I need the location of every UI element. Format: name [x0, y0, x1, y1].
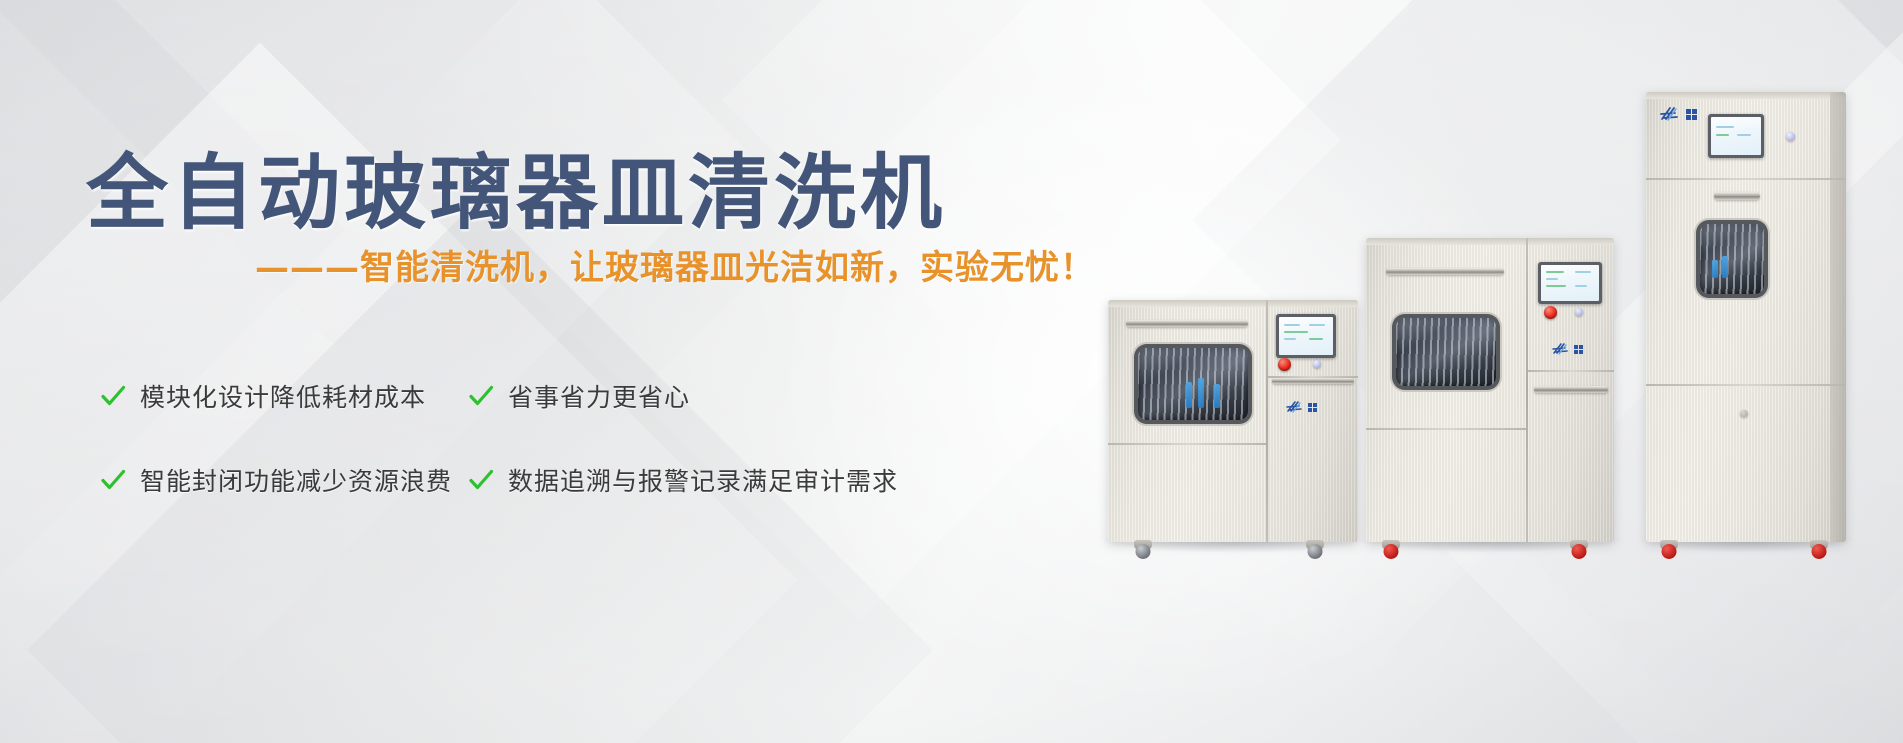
- lock-icon: [1740, 410, 1748, 417]
- machine-body: [1366, 238, 1614, 542]
- feature-row: 模块化设计降低耗材成本 省事省力更省心: [100, 378, 980, 414]
- feature-row: 智能封闭功能减少资源浪费 数据追溯与报警记录满足审计需求: [100, 462, 980, 498]
- brand-logo: [1552, 342, 1583, 356]
- check-icon: [100, 383, 126, 409]
- power-button[interactable]: [1313, 360, 1321, 368]
- touchscreen-panel[interactable]: [1708, 114, 1764, 158]
- door-seam: [1108, 443, 1266, 445]
- list-item: 省事省力更省心: [468, 378, 948, 414]
- emergency-stop-button[interactable]: [1544, 306, 1557, 319]
- screen-line: [1575, 271, 1591, 273]
- section-seam: [1646, 178, 1846, 180]
- wheel: [1308, 544, 1323, 559]
- wheel: [1812, 544, 1827, 559]
- blue-pipette: [1186, 382, 1192, 408]
- door-handle: [1714, 192, 1760, 200]
- banner-subtitle: ———智能清洗机，让玻璃器皿光洁如新，实验无忧！: [255, 240, 1095, 289]
- screen-line: [1546, 278, 1558, 280]
- list-item: 智能封闭功能减少资源浪费: [100, 462, 468, 498]
- blue-pipette: [1214, 384, 1220, 408]
- power-button[interactable]: [1575, 308, 1583, 316]
- section-seam: [1646, 384, 1846, 386]
- blue-pipette: [1712, 260, 1718, 278]
- glassware-inside: [1700, 224, 1764, 294]
- caster-wheel: [1810, 540, 1828, 550]
- product-image-undercounter-washer: [1366, 238, 1614, 542]
- wheel: [1384, 544, 1399, 559]
- drawer-handle: [1272, 378, 1354, 384]
- machine-body: [1646, 92, 1846, 542]
- wheel: [1572, 544, 1587, 559]
- logo-dots-icon: [1308, 403, 1317, 412]
- screen-line: [1716, 134, 1729, 136]
- power-button[interactable]: [1786, 132, 1795, 141]
- feature-list: 模块化设计降低耗材成本 省事省力更省心 智能封闭功能减少资源浪费: [100, 378, 980, 546]
- glassware-inside: [1396, 318, 1496, 386]
- logo-dots-icon: [1574, 345, 1583, 354]
- machine-top-cap: [1366, 238, 1614, 245]
- caster-wheel: [1660, 540, 1678, 550]
- blue-pipette: [1722, 256, 1728, 278]
- list-item: 模块化设计降低耗材成本: [100, 378, 468, 414]
- screen-line: [1309, 324, 1325, 326]
- touchscreen-panel[interactable]: [1276, 314, 1336, 358]
- drawer-handle: [1534, 386, 1608, 393]
- screen-line: [1284, 324, 1300, 326]
- panel-seam: [1528, 370, 1614, 372]
- blue-pipette: [1198, 378, 1204, 408]
- logo-mark-icon: [1286, 400, 1306, 414]
- panel-divider: [1526, 238, 1528, 542]
- brushed-steel-texture: [1646, 92, 1846, 542]
- screen-line: [1716, 126, 1734, 128]
- wheel: [1136, 544, 1151, 559]
- screen-line: [1309, 338, 1323, 340]
- glassware-inside: [1138, 348, 1248, 420]
- caster-wheel: [1306, 540, 1324, 550]
- touchscreen-panel[interactable]: [1538, 262, 1602, 304]
- check-icon: [100, 467, 126, 493]
- caster-wheel: [1134, 540, 1152, 550]
- touchscreen-display[interactable]: [1541, 265, 1599, 301]
- logo-mark-icon: [1660, 106, 1684, 122]
- screen-line: [1737, 134, 1751, 136]
- feature-label: 模块化设计降低耗材成本: [140, 378, 426, 414]
- page-title: 全自动玻璃器皿清洗机: [86, 152, 946, 236]
- door-handle: [1386, 268, 1504, 275]
- wheel: [1662, 544, 1677, 559]
- viewing-window: [1700, 224, 1764, 294]
- screen-line: [1546, 271, 1564, 273]
- touchscreen-display[interactable]: [1711, 117, 1761, 155]
- feature-label: 省事省力更省心: [508, 378, 690, 414]
- logo-mark-icon: [1552, 342, 1572, 356]
- check-icon: [468, 467, 494, 493]
- product-image-floor-standing-washer: [1646, 92, 1846, 542]
- side-panel: [1830, 92, 1846, 542]
- feature-label: 智能封闭功能减少资源浪费: [140, 462, 452, 498]
- touchscreen-display[interactable]: [1279, 317, 1333, 355]
- emergency-stop-button[interactable]: [1278, 358, 1291, 371]
- machine-top-cap: [1646, 92, 1846, 99]
- viewing-window: [1138, 348, 1248, 420]
- machine-body: [1108, 300, 1358, 542]
- logo-dots-icon: [1686, 109, 1697, 120]
- machine-top-cap: [1108, 300, 1358, 307]
- check-icon: [468, 383, 494, 409]
- product-image-benchtop-washer: [1108, 300, 1358, 542]
- product-image-group: [1090, 0, 1903, 743]
- product-banner: 全自动玻璃器皿清洗机 ———智能清洗机，让玻璃器皿光洁如新，实验无忧！ 模块化设…: [0, 0, 1903, 743]
- viewing-window: [1396, 318, 1496, 386]
- brand-logo: [1286, 400, 1317, 414]
- caster-wheel: [1382, 540, 1400, 550]
- caster-wheel: [1570, 540, 1588, 550]
- panel-divider: [1266, 300, 1268, 542]
- list-item: 数据追溯与报警记录满足审计需求: [468, 462, 948, 498]
- feature-label: 数据追溯与报警记录满足审计需求: [508, 462, 898, 498]
- screen-line: [1284, 331, 1308, 333]
- door-seam: [1366, 428, 1526, 430]
- screen-line: [1575, 285, 1587, 287]
- screen-line: [1546, 285, 1566, 287]
- door-handle: [1126, 320, 1248, 327]
- screen-line: [1284, 338, 1296, 340]
- banner-content: 全自动玻璃器皿清洗机 ———智能清洗机，让玻璃器皿光洁如新，实验无忧！ 模块化设…: [0, 0, 1100, 743]
- brand-logo: [1660, 106, 1697, 122]
